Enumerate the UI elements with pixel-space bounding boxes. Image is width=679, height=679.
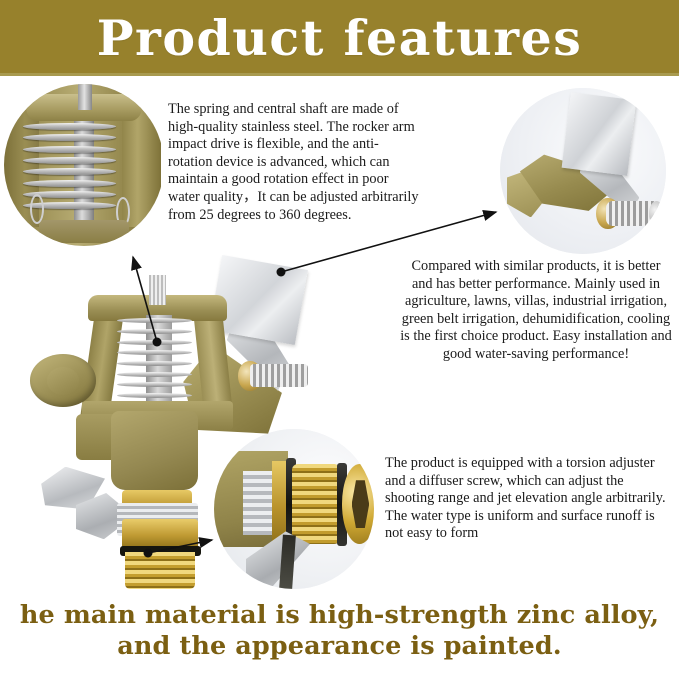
callout-text-torsion-adjuster: The product is equipped with a torsion a… [385, 455, 675, 543]
product-image-impact-sprinkler [18, 262, 308, 592]
callout-text-comparison: Compared with similar products, it is be… [400, 258, 672, 364]
callout-text-spring-shaft: The spring and central shaft are made of… [168, 101, 420, 224]
inset-spring-detail [4, 84, 164, 246]
bottom-caption: he main material is high-strength zinc a… [0, 600, 679, 662]
page-title: Product features [97, 14, 583, 63]
inset-rocker-detail [500, 88, 666, 254]
bottom-caption-line-2: and the appearance is painted. [0, 631, 679, 662]
header-banner: Product features [0, 0, 679, 76]
bottom-caption-line-1: he main material is high-strength zinc a… [0, 600, 679, 631]
product-features-infographic: Product features [0, 0, 679, 679]
spring-detail-photo [4, 84, 164, 246]
rocker-detail-photo [500, 88, 666, 254]
